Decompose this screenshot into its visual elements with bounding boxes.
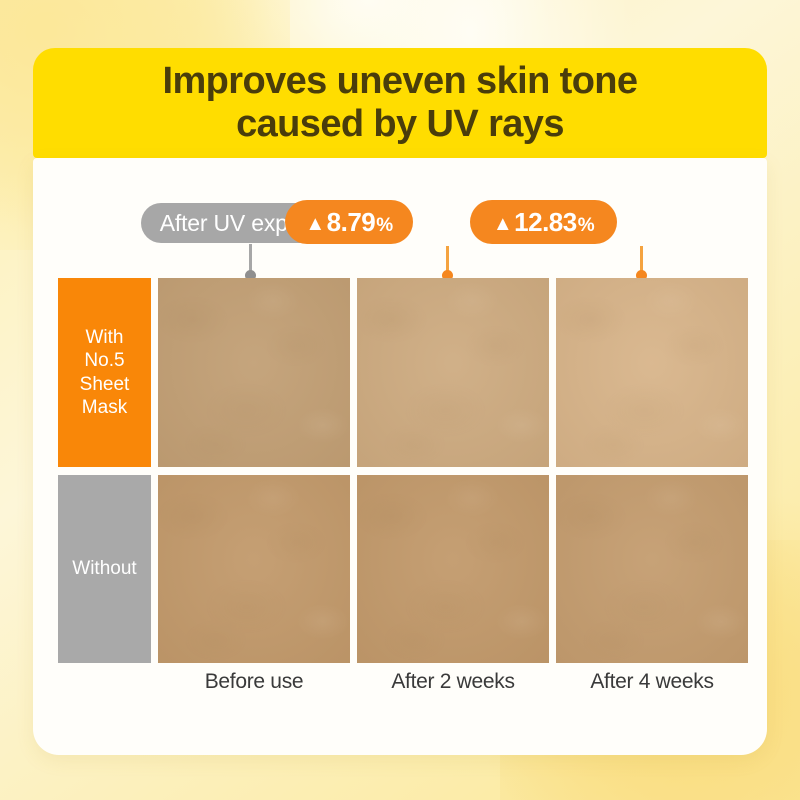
skin-tile-with-before (158, 278, 350, 467)
table-row-without-mask: Without (58, 475, 748, 663)
badge-value-group: ▲ 8.79 % (305, 207, 392, 238)
triangle-up-icon: ▲ (305, 214, 324, 234)
skin-vignette (556, 278, 748, 467)
badge-value: 12.83 (514, 207, 577, 238)
skin-vignette (556, 475, 748, 663)
infographic-canvas: Improves uneven skin tone caused by UV r… (0, 0, 800, 800)
page-title: Improves uneven skin tone caused by UV r… (163, 60, 638, 145)
table-row-with-mask: With No.5 Sheet Mask (58, 278, 748, 467)
skin-tile-without-4weeks (556, 475, 748, 663)
column-label-after-4-weeks: After 4 weeks (556, 670, 748, 694)
badge-unit: % (578, 215, 594, 237)
comparison-grid: With No.5 Sheet Mask Wi (58, 278, 748, 663)
skin-vignette (357, 475, 549, 663)
column-label-row: Before use After 2 weeks After 4 weeks (58, 670, 748, 694)
comparison-card: After UV exposure ▲ 8.79 % ▲ 12.83 % (33, 158, 767, 755)
connector-stem-after-uv-exposure (249, 244, 252, 271)
badge-row: After UV exposure ▲ 8.79 % ▲ 12.83 % (33, 158, 767, 278)
skin-tile-without-before (158, 475, 350, 663)
column-label-before-use: Before use (158, 670, 350, 694)
skin-vignette (357, 278, 549, 467)
row-label-with-mask: With No.5 Sheet Mask (58, 278, 151, 467)
skin-vignette (158, 278, 350, 467)
skin-vignette (158, 475, 350, 663)
header-banner: Improves uneven skin tone caused by UV r… (33, 48, 767, 158)
skin-tile-without-2weeks (357, 475, 549, 663)
badge-improvement-4-weeks: ▲ 12.83 % (470, 200, 617, 244)
badge-improvement-2-weeks: ▲ 8.79 % (285, 200, 413, 244)
skin-tile-with-4weeks (556, 278, 748, 467)
badge-unit: % (376, 215, 392, 237)
skin-tile-with-2weeks (357, 278, 549, 467)
badge-value: 8.79 (327, 207, 376, 238)
connector-stem-2-weeks (446, 246, 449, 271)
connector-stem-4-weeks (640, 246, 643, 271)
row-label-without-mask: Without (58, 475, 151, 663)
column-label-after-2-weeks: After 2 weeks (357, 670, 549, 694)
triangle-up-icon: ▲ (493, 214, 512, 234)
column-label-spacer (58, 670, 151, 694)
badge-value-group: ▲ 12.83 % (493, 207, 594, 238)
